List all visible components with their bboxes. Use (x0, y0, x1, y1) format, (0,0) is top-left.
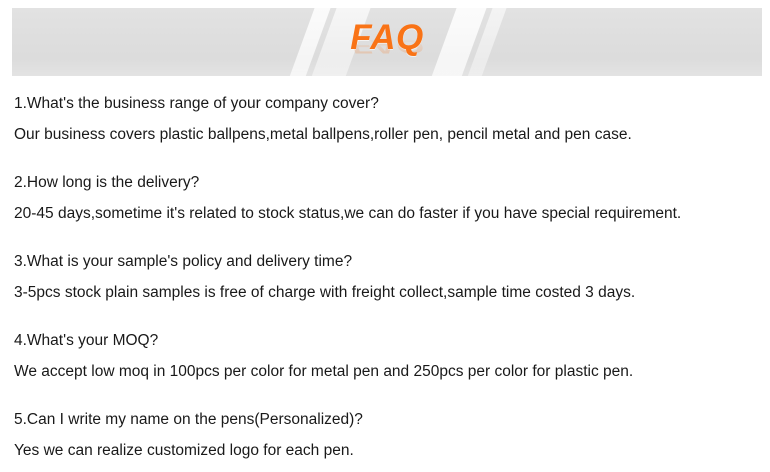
faq-question: 1.What's the business range of your comp… (14, 88, 758, 119)
faq-answer: Yes we can realize customized logo for e… (14, 435, 758, 466)
faq-list: 1.What's the business range of your comp… (14, 88, 758, 466)
faq-question: 5.Can I write my name on the pens(Person… (14, 404, 758, 435)
banner-title-wrap: FAQ FAQ (12, 20, 762, 76)
faq-question: 3.What is your sample's policy and deliv… (14, 246, 758, 277)
faq-answer: 3-5pcs stock plain samples is free of ch… (14, 277, 758, 308)
faq-answer: 20-45 days,sometime it's related to stoc… (14, 198, 758, 229)
faq-answer: We accept low moq in 100pcs per color fo… (14, 356, 758, 387)
faq-question: 4.What's your MOQ? (14, 325, 758, 356)
faq-item: 2.How long is the delivery? 20-45 days,s… (14, 167, 758, 229)
faq-page: FAQ FAQ 1.What's the business range of y… (0, 0, 770, 472)
faq-item: 5.Can I write my name on the pens(Person… (14, 404, 758, 466)
faq-item: 1.What's the business range of your comp… (14, 88, 758, 150)
faq-item: 3.What is your sample's policy and deliv… (14, 246, 758, 308)
faq-answer: Our business covers plastic ballpens,met… (14, 119, 758, 150)
faq-item: 4.What's your MOQ? We accept low moq in … (14, 325, 758, 387)
faq-question: 2.How long is the delivery? (14, 167, 758, 198)
faq-banner: FAQ FAQ (12, 8, 762, 76)
page-title-reflection: FAQ (350, 37, 423, 56)
